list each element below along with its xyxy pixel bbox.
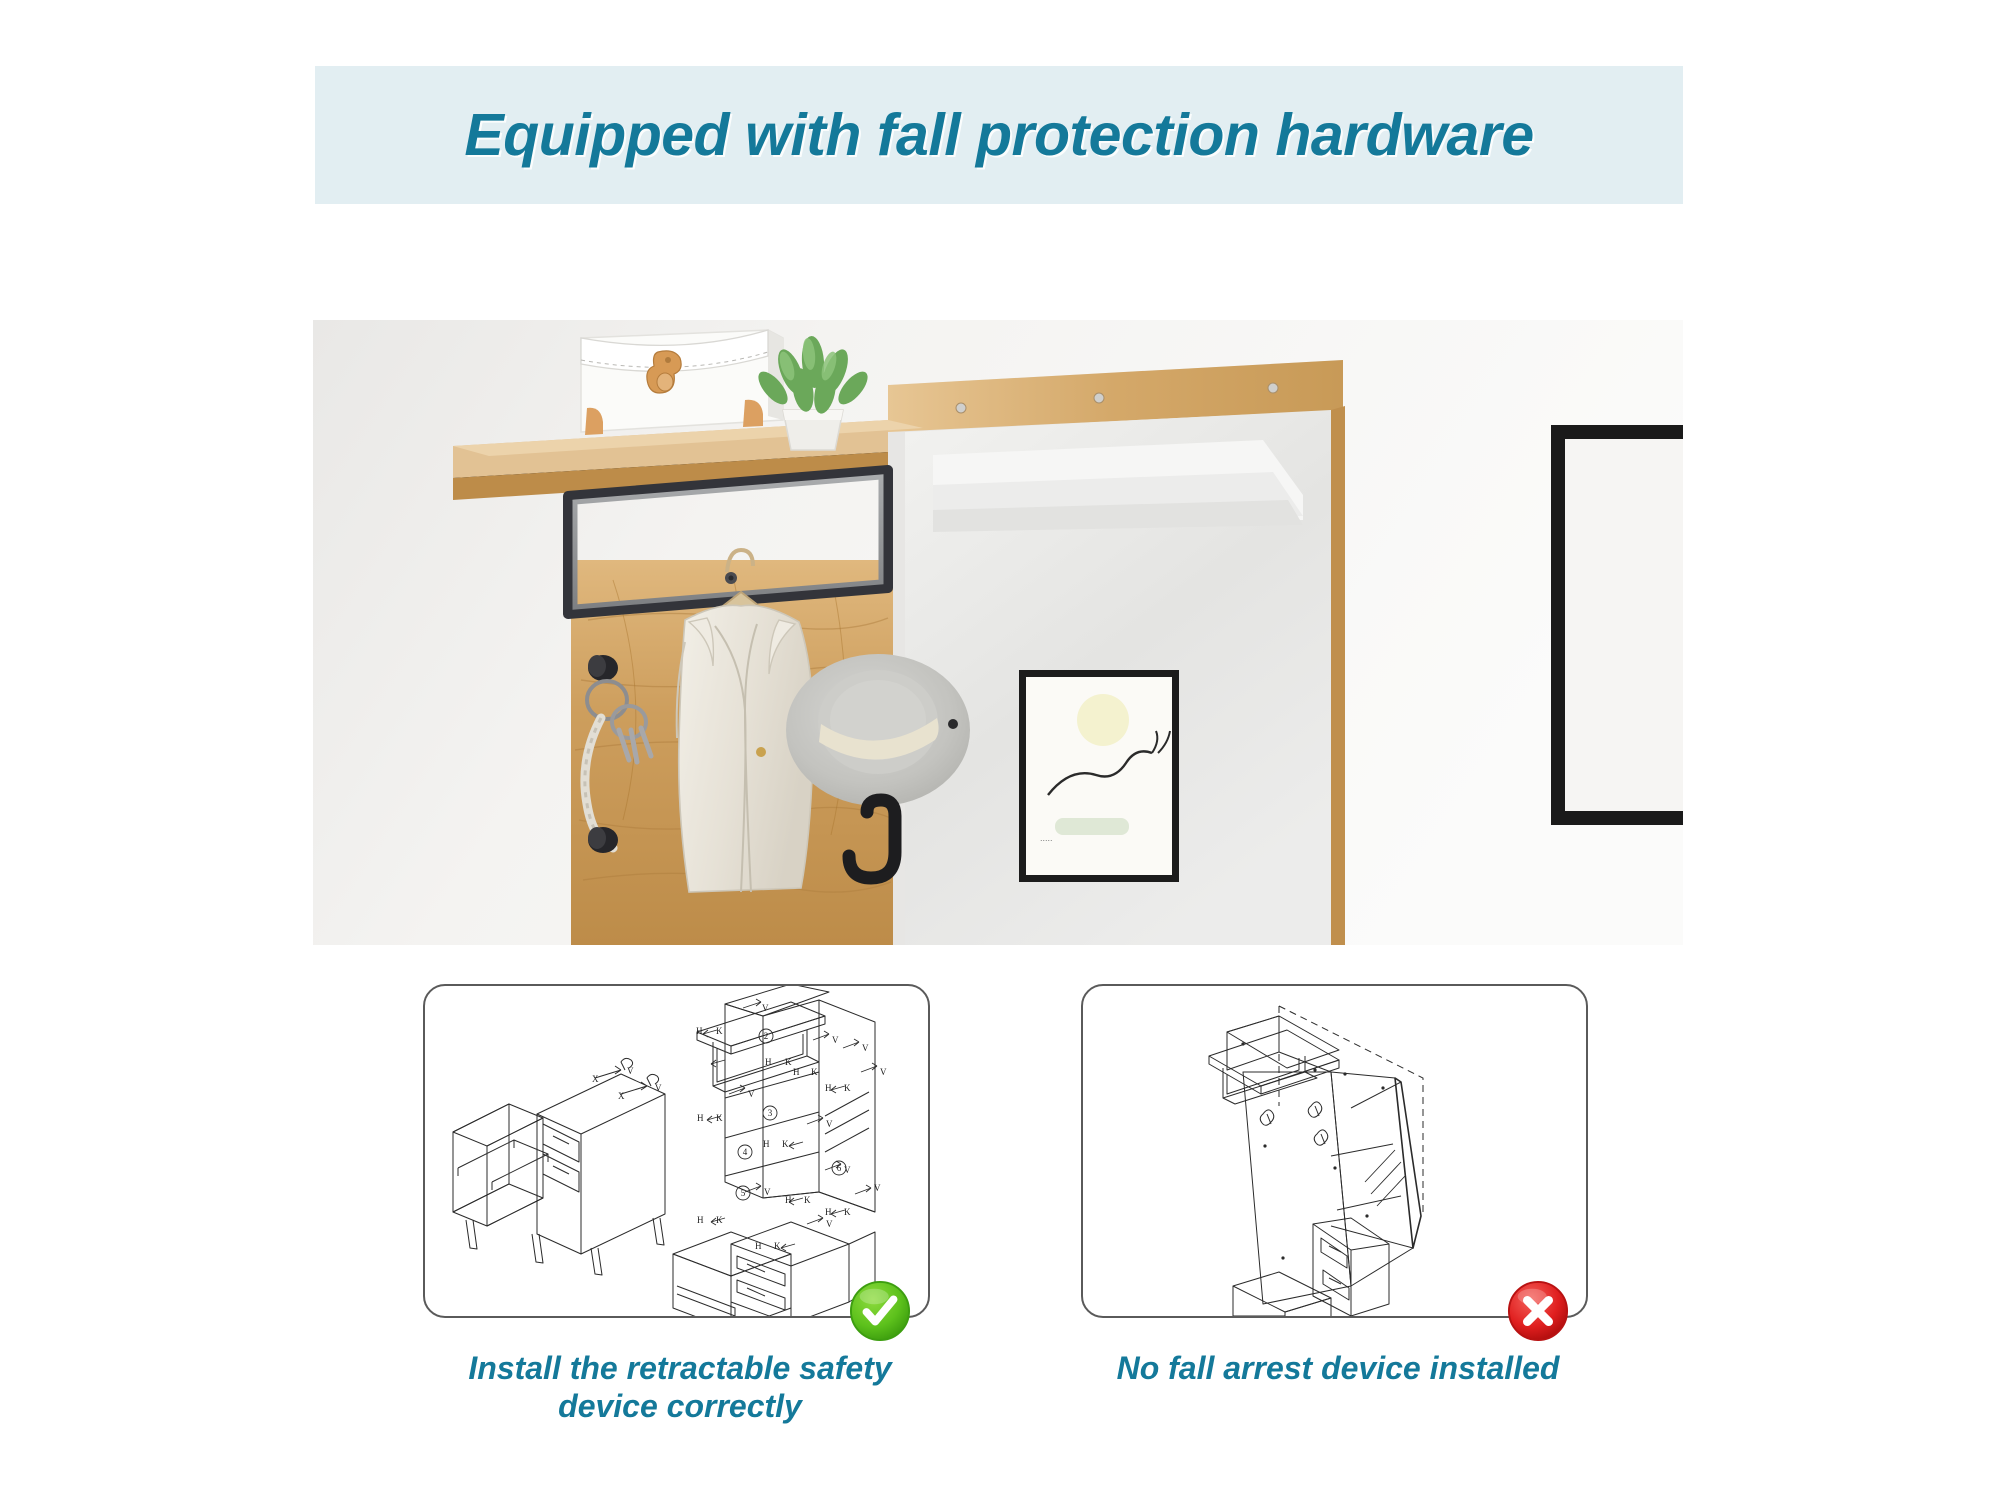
correct-caption: Install the retractable safety device co… [400,1350,960,1426]
svg-text:H: H [697,1113,704,1123]
infographic-page: Equipped with fall protection hardware [0,0,2000,1500]
svg-text:V: V [826,1119,833,1129]
title-banner: Equipped with fall protection hardware [315,66,1683,204]
correct-installation-panel: V V V V V V V V V V V V X X H K H K H K [423,984,930,1318]
svg-text:4: 4 [743,1147,748,1157]
svg-text:X: X [592,1074,599,1084]
incorrect-caption-line1: No fall arrest device installed [1058,1350,1618,1388]
storage-box [581,330,783,435]
svg-text:H: H [785,1195,792,1205]
svg-text:V: V [832,1035,839,1045]
page-title: Equipped with fall protection hardware [315,66,1683,204]
svg-text:V: V [844,1165,851,1175]
svg-text:H: H [765,1057,772,1067]
svg-text:K: K [811,1067,818,1077]
svg-text:H: H [825,1083,832,1093]
svg-text:H: H [755,1241,762,1251]
svg-text:H: H [825,1207,832,1217]
svg-text:K: K [804,1195,811,1205]
svg-text:K: K [716,1026,723,1036]
svg-text:K: K [716,1113,723,1123]
svg-text:V: V [627,1066,634,1076]
svg-text:V: V [862,1043,869,1053]
diagram-step-numbers: 2 3 4 5 6 [736,1029,846,1200]
round-wall-hook-lower [588,827,618,853]
fedora-hat [786,654,970,806]
svg-text:H: H [697,1215,704,1225]
svg-text:6: 6 [837,1163,842,1173]
round-wall-hook-upper [588,655,618,681]
svg-text:H: H [793,1067,800,1077]
svg-text:V: V [874,1183,881,1193]
svg-text:H: H [696,1026,703,1036]
svg-text:K: K [774,1241,781,1251]
svg-text:.....: ..... [1040,833,1053,843]
cross-badge [1507,1280,1569,1342]
incorrect-assembly-diagram [1083,986,1586,1316]
svg-text:5: 5 [741,1188,746,1198]
svg-text:V: V [762,1003,769,1013]
check-icon [849,1280,911,1342]
svg-text:V: V [655,1083,662,1093]
svg-text:H: H [763,1139,770,1149]
oak-mirror: ..... [888,360,1345,945]
svg-text:3: 3 [768,1108,773,1118]
svg-text:K: K [785,1057,792,1067]
hero-photo: ..... [313,320,1683,945]
correct-caption-line1: Install the retractable safety [400,1350,960,1388]
svg-text:X: X [618,1091,625,1101]
svg-text:V: V [748,1089,755,1099]
svg-text:V: V [826,1219,833,1229]
check-badge [849,1280,911,1342]
svg-text:K: K [844,1207,851,1217]
incorrect-installation-panel [1081,984,1588,1318]
upright-reference-outline [1279,1006,1423,1212]
svg-text:K: K [782,1139,789,1149]
incorrect-caption: No fall arrest device installed [1058,1350,1618,1388]
svg-text:K: K [716,1215,723,1225]
svg-text:V: V [764,1187,771,1197]
svg-text:2: 2 [764,1031,769,1041]
diagram-hardware-labels: V V V V V V V V V V V V X X H K H K H K [592,1003,887,1251]
black-picture-frame [1551,425,1683,825]
svg-text:V: V [880,1067,887,1077]
svg-text:K: K [844,1083,851,1093]
cross-icon [1507,1280,1569,1342]
correct-assembly-diagram: V V V V V V V V V V V V X X H K H K H K [425,986,928,1316]
correct-caption-line2: device correctly [400,1388,960,1426]
hero-photo-illustration: ..... [313,320,1683,945]
